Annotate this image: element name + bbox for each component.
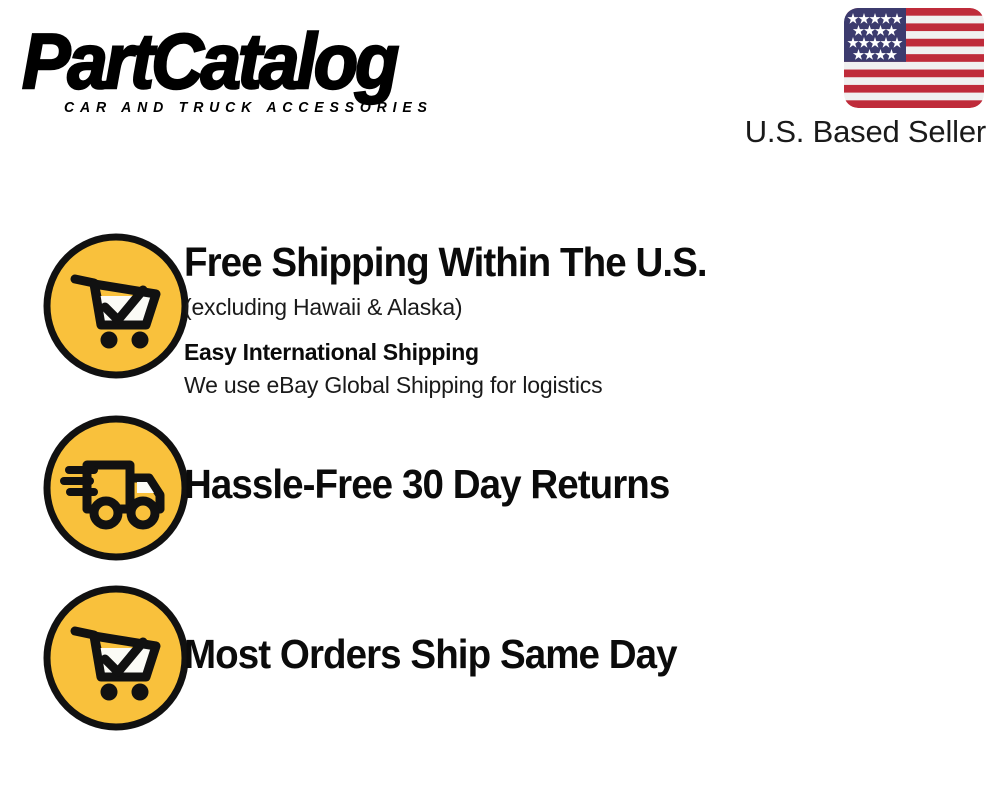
feature-text-block: Hassle-Free 30 Day Returns bbox=[160, 414, 700, 508]
feature-row-same-day-ship: Most Orders Ship Same Day bbox=[0, 584, 1000, 732]
brand-tagline: CAR AND TRUCK ACCESSORIES bbox=[64, 100, 479, 116]
feature-detail-bold: Easy International Shipping bbox=[184, 336, 740, 368]
feature-heading: Hassle-Free 30 Day Returns bbox=[184, 460, 669, 508]
feature-row-returns: Hassle-Free 30 Day Returns bbox=[0, 414, 1000, 562]
feature-icon-wrap bbox=[0, 584, 160, 732]
feature-icon-wrap bbox=[0, 232, 160, 380]
seller-badge-label: U.S. Based Seller bbox=[714, 112, 986, 152]
feature-text-block: Free Shipping Within The U.S. (excluding… bbox=[160, 232, 740, 401]
brand-logo: PartCatalog CAR AND TRUCK ACCESSORIES bbox=[22, 24, 492, 116]
feature-detail-plain: We use eBay Global Shipping for logistic… bbox=[184, 369, 740, 401]
feature-heading: Free Shipping Within The U.S. bbox=[184, 238, 707, 286]
us-based-seller-badge: U.S. Based Seller bbox=[714, 8, 986, 152]
feature-heading: Most Orders Ship Same Day bbox=[184, 630, 677, 678]
feature-subtitle: (excluding Hawaii & Alaska) bbox=[184, 290, 740, 324]
feature-row-free-shipping: Free Shipping Within The U.S. (excluding… bbox=[0, 232, 1000, 401]
brand-wordmark: PartCatalog bbox=[22, 24, 459, 98]
feature-text-block: Most Orders Ship Same Day bbox=[160, 584, 708, 678]
us-flag-icon bbox=[844, 8, 984, 108]
feature-icon-wrap bbox=[0, 414, 160, 562]
banner-page: PartCatalog CAR AND TRUCK ACCESSORIES bbox=[0, 0, 1000, 800]
